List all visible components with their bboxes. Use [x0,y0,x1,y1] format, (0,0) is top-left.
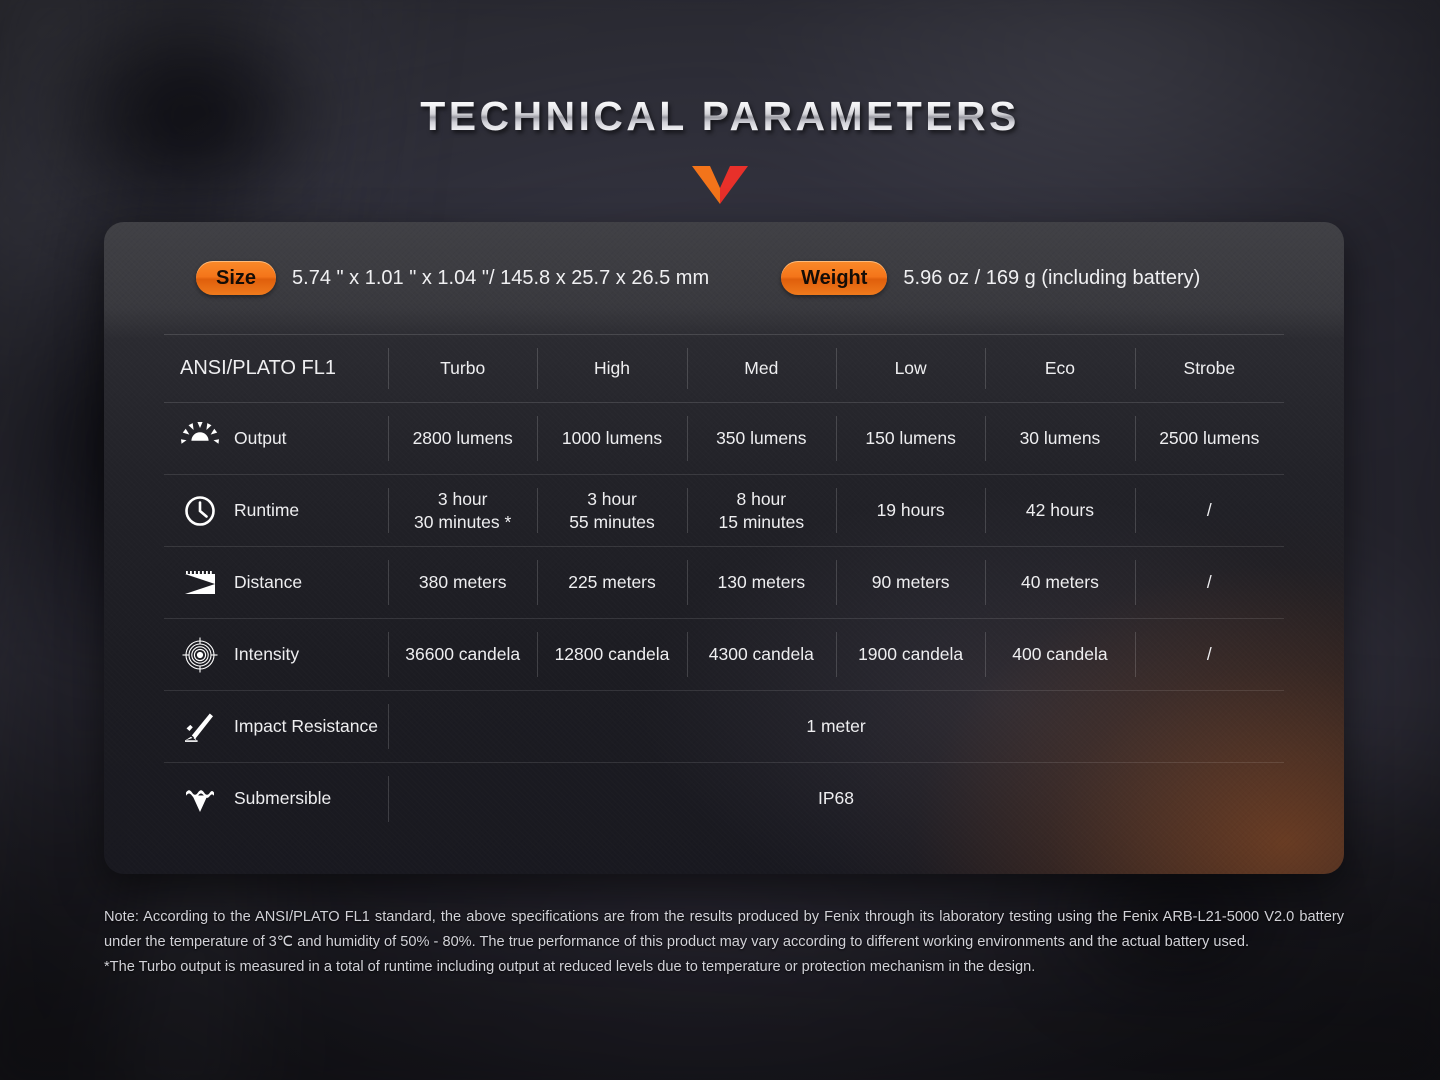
cell-intensity-med: 4300 candela [687,619,836,691]
table-row: Intensity 36600 candela 12800 candela 43… [164,619,1284,691]
table-body: Output 2800 lumens 1000 lumens 350 lumen… [164,403,1284,835]
table-row: Impact Resistance 1 meter [164,691,1284,763]
specs-table: ANSI/PLATO FL1 Turbo High Med Low Eco St… [164,334,1284,835]
cell-output-high: 1000 lumens [537,403,686,475]
table-row: Runtime 3 hour30 minutes * 3 hour55 minu… [164,475,1284,547]
footnote-line-2: *The Turbo output is measured in a total… [104,955,1344,980]
header: TECHNICAL PARAMETERS [0,96,1440,204]
cell-output-low: 150 lumens [836,403,985,475]
cell-runtime-high: 3 hour55 minutes [537,475,686,547]
cell-output-eco: 30 lumens [985,403,1134,475]
sunburst-icon [180,419,220,459]
cell-distance-high: 225 meters [537,547,686,619]
row-label-text: Intensity [234,644,299,665]
column-header-high: High [537,335,686,403]
column-header-eco: Eco [985,335,1134,403]
weight-badge: Weight [781,261,887,295]
cell-runtime-turbo: 3 hour30 minutes * [388,475,537,547]
cell-output-med: 350 lumens [687,403,836,475]
water-drop-icon [180,779,220,819]
row-label-intensity: Intensity [164,619,388,691]
cell-intensity-turbo: 36600 candela [388,619,537,691]
column-header-low: Low [836,335,985,403]
clock-icon [180,491,220,531]
page-root: TECHNICAL PARAMETERS Size 5.74 " x 1.01 … [0,0,1440,1080]
cell-intensity-strobe: / [1135,619,1284,691]
row-label-text: Submersible [234,788,331,809]
summary-row: Size 5.74 " x 1.01 " x 1.04 "/ 145.8 x 2… [164,222,1284,334]
size-badge: Size [196,261,276,295]
column-header-med: Med [687,335,836,403]
row-label-submersible: Submersible [164,763,388,835]
cell-output-strobe: 2500 lumens [1135,403,1284,475]
row-label-output: Output [164,403,388,475]
weight-value: 5.96 oz / 169 g (including battery) [903,267,1200,290]
cell-distance-eco: 40 meters [985,547,1134,619]
cell-runtime-eco: 42 hours [985,475,1134,547]
cell-submersible-value: IP68 [388,763,1284,835]
row-label-impact-resistance: Impact Resistance [164,691,388,763]
cell-distance-low: 90 meters [836,547,985,619]
page-title: TECHNICAL PARAMETERS [420,96,1020,137]
table-row: Distance 380 meters 225 meters 130 meter… [164,547,1284,619]
chevron-down-icon [692,166,748,204]
cell-intensity-eco: 400 candela [985,619,1134,691]
row-label-text: Runtime [234,500,299,521]
column-header-turbo: Turbo [388,335,537,403]
cell-runtime-strobe: / [1135,475,1284,547]
table-header: ANSI/PLATO FL1 Turbo High Med Low Eco St… [164,335,1284,403]
row-label-text: Distance [234,572,302,593]
target-icon [180,635,220,675]
cell-intensity-high: 12800 candela [537,619,686,691]
footnote-line-1: Note: According to the ANSI/PLATO FL1 st… [104,905,1344,955]
cell-impact-resistance-value: 1 meter [388,691,1284,763]
row-label-runtime: Runtime [164,475,388,547]
ruler-icon [180,563,220,603]
cell-output-turbo: 2800 lumens [388,403,537,475]
row-label-distance: Distance [164,547,388,619]
footnote: Note: According to the ANSI/PLATO FL1 st… [104,905,1344,980]
cell-runtime-low: 19 hours [836,475,985,547]
column-header-standard: ANSI/PLATO FL1 [164,335,388,403]
table-row: Output 2800 lumens 1000 lumens 350 lumen… [164,403,1284,475]
cell-distance-strobe: / [1135,547,1284,619]
impact-icon [180,707,220,747]
size-value: 5.74 " x 1.01 " x 1.04 "/ 145.8 x 25.7 x… [292,267,709,290]
cell-intensity-low: 1900 candela [836,619,985,691]
cell-distance-turbo: 380 meters [388,547,537,619]
table-row: Submersible IP68 [164,763,1284,835]
row-label-text: Impact Resistance [234,716,378,737]
cell-distance-med: 130 meters [687,547,836,619]
row-label-text: Output [234,428,287,449]
specs-card: Size 5.74 " x 1.01 " x 1.04 "/ 145.8 x 2… [104,222,1344,874]
column-header-strobe: Strobe [1135,335,1284,403]
table-header-row: ANSI/PLATO FL1 Turbo High Med Low Eco St… [164,335,1284,403]
cell-runtime-med: 8 hour15 minutes [687,475,836,547]
